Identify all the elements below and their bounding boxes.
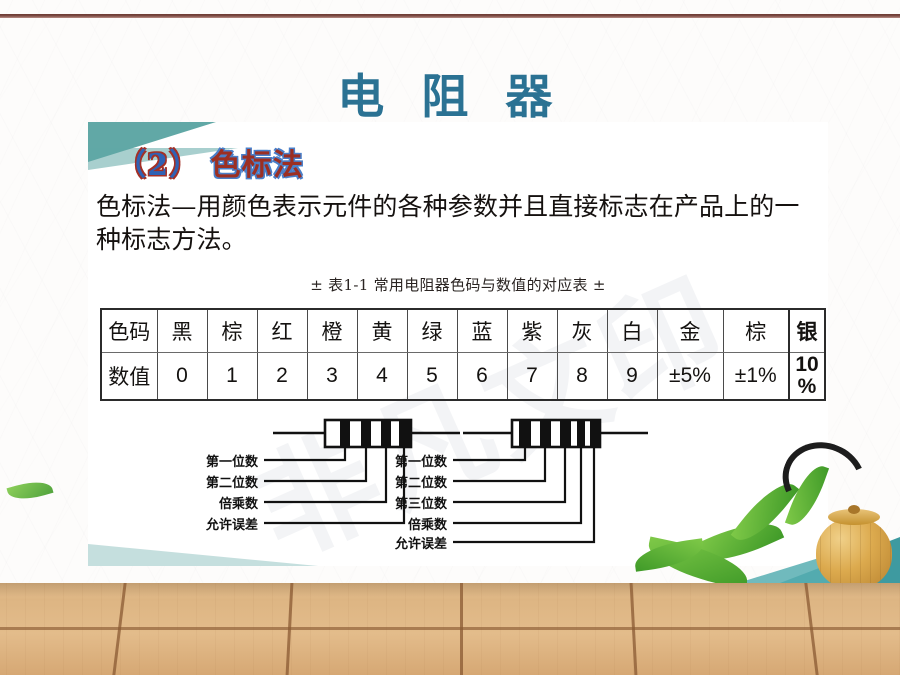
label-right-2: 第三位数 — [395, 496, 448, 512]
cell-color-12: 银 — [789, 309, 825, 353]
page-title: 电 阻 器 — [0, 58, 900, 127]
cell-value-11: ±1% — [723, 353, 789, 401]
table-caption: ± 表1-1 常用电阻器色码与数值的对应表 ± — [88, 274, 828, 295]
label-left-0: 第一位数 — [206, 454, 259, 470]
cell-color-1: 棕 — [207, 309, 257, 353]
cell-value-10: ±5% — [657, 353, 723, 401]
subtitle-number: （2） — [116, 148, 200, 183]
row-label-value: 数值 — [101, 353, 157, 401]
wooden-deck-background — [0, 583, 900, 675]
cell-color-2: 红 — [257, 309, 307, 353]
cell-color-11: 棕 — [723, 309, 789, 353]
cell-value-12-line2: % — [798, 375, 817, 398]
cell-value-9: 9 — [607, 353, 657, 401]
cell-value-6: 6 — [457, 353, 507, 401]
five-band-resistor-figure: 第一位数 第二位数 第三位数 倍乘数 允许误差 — [394, 420, 648, 552]
label-left-3: 允许误差 — [205, 517, 258, 533]
cell-value-0: 0 — [157, 353, 207, 401]
label-right-3: 倍乘数 — [408, 517, 448, 533]
color-code-table: 色码 黑 棕 红 橙 黄 绿 蓝 紫 灰 白 金 棕 银 数值 — [100, 308, 826, 401]
cell-value-12-line1: 10 — [795, 353, 818, 376]
label-left-1: 第二位数 — [206, 475, 259, 491]
cell-color-0: 黑 — [157, 309, 207, 353]
resistor-diagram-svg: 第一位数 第二位数 倍乘数 允许误差 — [88, 412, 828, 552]
cell-value-4: 4 — [357, 353, 407, 401]
teapot-knob-icon — [848, 505, 860, 514]
cell-color-8: 灰 — [557, 309, 607, 353]
cell-color-3: 橙 — [307, 309, 357, 353]
cell-color-6: 蓝 — [457, 309, 507, 353]
section-subtitle: （2）色标法 — [116, 140, 304, 184]
color-code-table-wrapper: 色码 黑 棕 红 橙 黄 绿 蓝 紫 灰 白 金 棕 银 数值 — [100, 308, 816, 401]
cell-color-9: 白 — [607, 309, 657, 353]
label-right-0: 第一位数 — [395, 454, 448, 470]
label-left-2: 倍乘数 — [219, 496, 259, 512]
label-right-4: 允许误差 — [394, 536, 447, 552]
cell-color-7: 紫 — [507, 309, 557, 353]
teapot-grain-texture — [816, 517, 892, 589]
cell-color-5: 绿 — [407, 309, 457, 353]
table-row-colors: 色码 黑 棕 红 橙 黄 绿 蓝 紫 灰 白 金 棕 银 — [101, 309, 825, 353]
cell-value-5: 5 — [407, 353, 457, 401]
label-right-1: 第二位数 — [395, 475, 448, 491]
cell-value-7: 7 — [507, 353, 557, 401]
resistor-diagrams: 第一位数 第二位数 倍乘数 允许误差 — [88, 412, 828, 552]
top-rule-divider — [0, 14, 900, 18]
slide-canvas: 电 阻 器 非凡文印 （2）色标法 色标法—用颜色表示元件的各种参数并且直接标志… — [0, 0, 900, 675]
cell-value-8: 8 — [557, 353, 607, 401]
cell-value-12: 10 % — [789, 353, 825, 401]
cell-color-10: 金 — [657, 309, 723, 353]
cell-value-1: 1 — [207, 353, 257, 401]
cell-value-2: 2 — [257, 353, 307, 401]
teapot-body-icon — [816, 517, 892, 589]
cell-color-4: 黄 — [357, 309, 407, 353]
leaf-icon-8 — [7, 476, 54, 504]
deck-top-shadow — [0, 583, 900, 597]
content-card: 非凡文印 （2）色标法 色标法—用颜色表示元件的各种参数并且直接标志在产品上的一… — [88, 122, 828, 566]
subtitle-label: 色标法 — [210, 148, 304, 183]
body-paragraph: 色标法—用颜色表示元件的各种参数并且直接标志在产品上的一种标志方法。 — [96, 190, 812, 257]
cell-value-3: 3 — [307, 353, 357, 401]
deck-horizontal-seam — [0, 627, 900, 630]
table-row-values: 数值 0 1 2 3 4 5 6 7 8 9 ±5% ±1% 10 % — [101, 353, 825, 401]
row-label-color-code: 色码 — [101, 309, 157, 353]
